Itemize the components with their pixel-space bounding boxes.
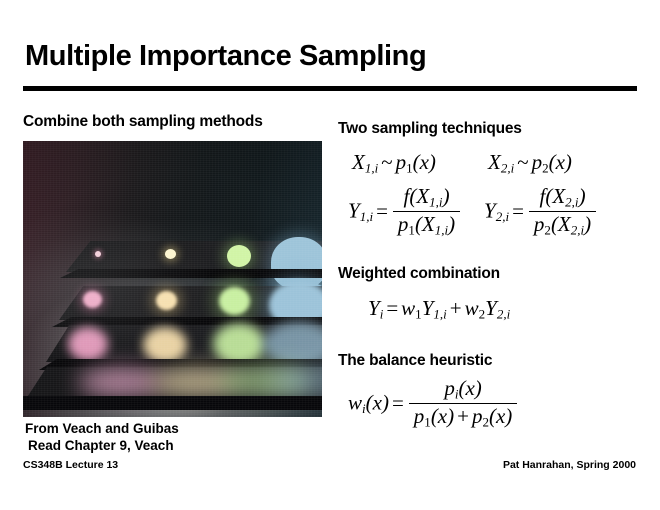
footer-author-label: Pat Hanrahan, Spring 2000	[503, 459, 636, 471]
veach-mis-scene-image	[23, 141, 322, 417]
eq-balance-numerator: pi(x)	[409, 377, 518, 403]
eq-x2-rel: ~	[514, 150, 531, 174]
equation-x1: X1,i~p1(x)	[352, 150, 436, 177]
scene-vignette	[23, 141, 322, 417]
eq-balance-denominator: p1(x)+p2(x)	[409, 403, 518, 430]
eq-y2-lhs-sub: 2,i	[496, 209, 509, 224]
equation-y1: Y1,i= f(X1,i) p1(X1,i)	[348, 186, 462, 239]
eq-y1-lhs-sub: 1,i	[360, 209, 373, 224]
attribution-line-1: From Veach and Guibas	[25, 421, 179, 436]
eq-x1-arg: (x)	[413, 150, 436, 174]
section-heading-two-sampling: Two sampling techniques	[338, 120, 522, 138]
section-heading-weighted-combination: Weighted combination	[338, 265, 500, 283]
equation-y2: Y2,i= f(X2,i) p2(X2,i)	[484, 186, 598, 239]
eq-x1-lhs: X	[352, 150, 365, 174]
eq-x1-rel: ~	[378, 150, 395, 174]
equation-x2: X2,i~p2(x)	[488, 150, 572, 177]
eq-y2-numerator: f(X2,i)	[529, 185, 596, 211]
eq-y2-rel: =	[509, 199, 527, 223]
section-heading-balance-heuristic: The balance heuristic	[338, 352, 492, 370]
slide: Multiple Importance Sampling Combine bot…	[0, 0, 660, 510]
attribution-line-2: Read Chapter 9, Veach	[28, 438, 174, 453]
eq-y1-rel: =	[373, 199, 391, 223]
eq-x2-lhs-sub: 2,i	[501, 161, 514, 176]
page-title: Multiple Importance Sampling	[25, 40, 426, 73]
eq-y2-lhs: Y	[484, 199, 496, 223]
eq-balance-fraction: pi(x) p1(x)+p2(x)	[409, 377, 518, 430]
eq-x1-lhs-sub: 1,i	[365, 161, 378, 176]
eq-y1-numerator: f(X1,i)	[393, 185, 460, 211]
eq-y1-denominator: p1(X1,i)	[393, 211, 460, 238]
left-column-heading: Combine both sampling methods	[23, 113, 263, 131]
eq-y2-denominator: p2(X2,i)	[529, 211, 596, 238]
title-divider	[23, 86, 637, 91]
footer-course-label: CS348B Lecture 13	[23, 459, 118, 471]
eq-x2-arg: (x)	[549, 150, 572, 174]
eq-x2-lhs: X	[488, 150, 501, 174]
eq-y1-fraction: f(X1,i) p1(X1,i)	[393, 185, 460, 238]
eq-x2-rhs: p	[532, 150, 543, 174]
equation-weighted-combination: Yi=w1Y1,i+w2Y2,i	[368, 296, 510, 323]
eq-y1-lhs: Y	[348, 199, 360, 223]
equation-balance-heuristic: wi(x)= pi(x) p1(x)+p2(x)	[348, 378, 519, 431]
eq-y2-fraction: f(X2,i) p2(X2,i)	[529, 185, 596, 238]
eq-x1-rhs: p	[396, 150, 407, 174]
